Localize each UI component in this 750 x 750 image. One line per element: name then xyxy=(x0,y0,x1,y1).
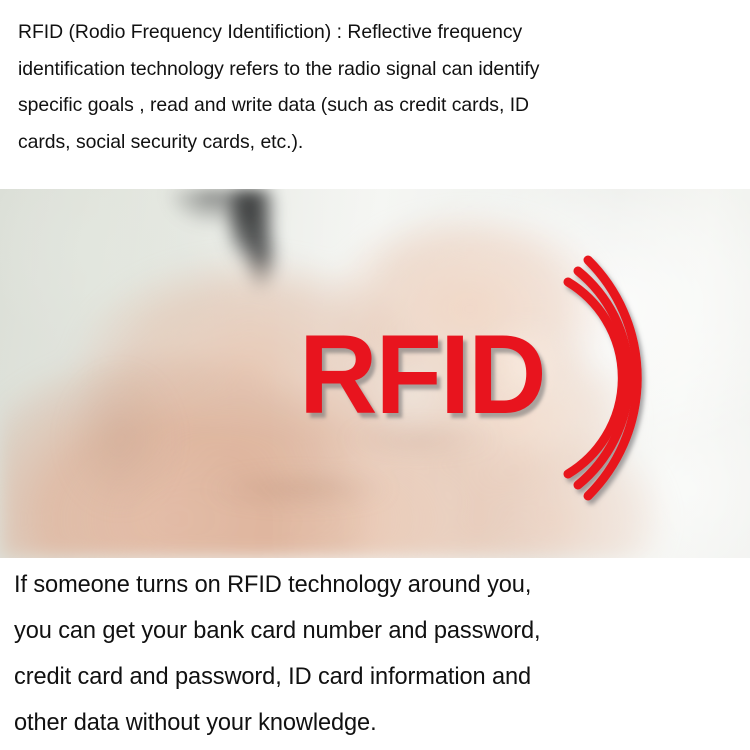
photo-defocus-wash xyxy=(0,189,750,558)
intro-line-1: RFID (Rodio Frequency Identifiction) : R… xyxy=(18,14,734,51)
warning-line-3: credit card and password, ID card inform… xyxy=(14,654,736,700)
intro-line-4: cards, social security cards, etc.). xyxy=(18,124,734,161)
intro-line-2: identification technology refers to the … xyxy=(18,51,734,88)
warning-line-4: other data without your knowledge. xyxy=(14,700,736,746)
warning-paragraph: If someone turns on RFID technology arou… xyxy=(0,562,750,746)
intro-line-3: specific goals , read and write data (su… xyxy=(18,87,734,124)
warning-line-1: If someone turns on RFID technology arou… xyxy=(14,562,736,608)
product-info-page: RFID (Rodio Frequency Identifiction) : R… xyxy=(0,0,750,750)
intro-paragraph: RFID (Rodio Frequency Identifiction) : R… xyxy=(0,14,750,160)
rfid-hand-photo: RFID xyxy=(0,189,750,558)
warning-line-2: you can get your bank card number and pa… xyxy=(14,608,736,654)
